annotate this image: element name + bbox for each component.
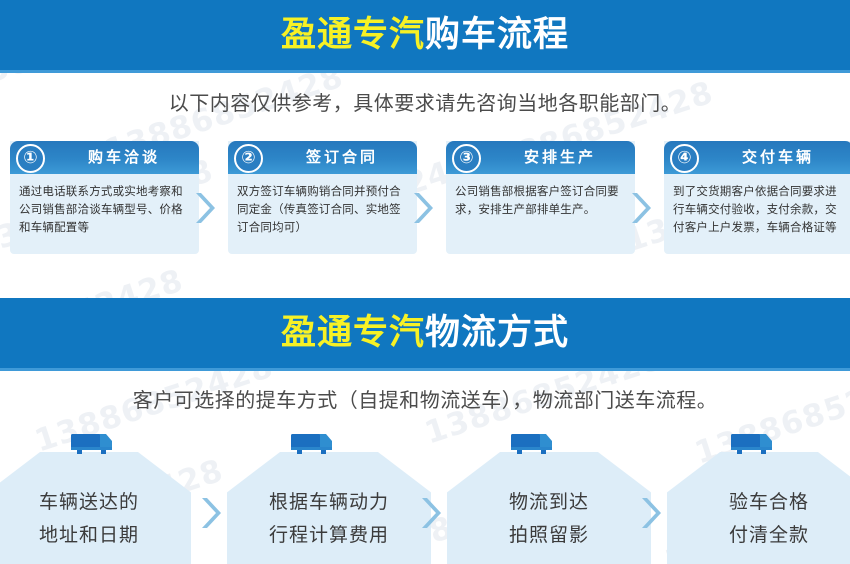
chevron-right-icon [411,191,433,225]
logistics-card-3-text: 物流到达 拍照留影 [447,486,651,552]
logistics-card-2-line1: 根据车辆动力 [227,486,431,519]
truck-icon [728,432,774,456]
logistics-card-1-line2: 地址和日期 [0,519,191,552]
step-card-3-body: 公司销售部根据客户签订合同要求，安排生产部排单生产。 [446,174,635,218]
step-card-3-title: 安排生产 [491,141,629,174]
logistics-card-1-line1: 车辆送达的 [0,486,191,519]
chevron-right-icon [199,496,221,530]
step-number-badge: ② [234,144,263,173]
step-card-1-title: 购车洽谈 [55,141,193,174]
step-number-badge: ③ [452,144,481,173]
logistics-banner: 盈通专汽物流方式 [0,298,850,371]
logistics-card-2-line2: 行程计算费用 [227,519,431,552]
step-card-1-body: 通过电话联系方式或实地考察和公司销售部洽谈车辆型号、价格和车辆配置等 [10,174,199,236]
purchase-flow-subtitle: 以下内容仅供参考，具体要求请先咨询当地各职能部门。 [0,87,850,116]
brand-name: 盈通专汽 [281,313,425,353]
logistics-card-4-line2: 付清全款 [667,519,850,552]
logistics-card-1[interactable]: 车辆送达的 地址和日期 [0,452,191,564]
page-root: 13886852428 13886852428 13886852428 1388… [0,0,850,564]
step-card-1[interactable]: ① 购车洽谈 通过电话联系方式或实地考察和公司销售部洽谈车辆型号、价格和车辆配置… [10,141,199,254]
chevron-right-icon [629,191,651,225]
logistics-card-3[interactable]: 物流到达 拍照留影 [447,452,651,564]
step-card-2-title: 签订合同 [273,141,411,174]
step-card-2[interactable]: ② 签订合同 双方签订车辆购销合同并预付合同定金（传真签订合同、实地签订合同均可… [228,141,417,254]
step-number-badge: ④ [670,144,699,173]
logistics-steps-row: 车辆送达的 地址和日期 根据车辆动力 行程计算费用 [0,432,850,564]
purchase-flow-banner: 盈通专汽购车流程 [0,0,850,73]
step-card-1-header: ① 购车洽谈 [10,141,199,174]
logistics-card-3-line1: 物流到达 [447,486,651,519]
chevron-right-icon [193,191,215,225]
truck-icon [508,432,554,456]
chevron-right-icon [639,496,661,530]
step-card-4-body: 到了交货期客户依据合同要求进行车辆交付验收，支付余款，交付客户上户发票，车辆合格… [664,174,850,236]
chevron-right-icon [419,496,441,530]
logistics-card-4[interactable]: 验车合格 付清全款 [667,452,850,564]
banner-subject: 购车流程 [425,15,569,55]
brand-name: 盈通专汽 [281,15,425,55]
logistics-card-2[interactable]: 根据车辆动力 行程计算费用 [227,452,431,564]
step-card-3-header: ③ 安排生产 [446,141,635,174]
truck-icon [68,432,114,456]
logistics-card-4-text: 验车合格 付清全款 [667,486,850,552]
step-card-3[interactable]: ③ 安排生产 公司销售部根据客户签订合同要求，安排生产部排单生产。 [446,141,635,254]
truck-icon [288,432,334,456]
step-number-badge: ① [16,144,45,173]
logistics-title: 盈通专汽物流方式 [0,298,850,368]
step-card-2-body: 双方签订车辆购销合同并预付合同定金（传真签订合同、实地签订合同均可） [228,174,417,236]
step-card-4[interactable]: ④ 交付车辆 到了交货期客户依据合同要求进行车辆交付验收，支付余款，交付客户上户… [664,141,850,254]
step-card-4-title: 交付车辆 [709,141,847,174]
purchase-flow-title: 盈通专汽购车流程 [0,0,850,70]
logistics-subtitle: 客户可选择的提车方式（自提和物流送车），物流部门送车流程。 [0,384,850,413]
logistics-card-1-text: 车辆送达的 地址和日期 [0,486,191,552]
step-card-2-header: ② 签订合同 [228,141,417,174]
step-card-4-header: ④ 交付车辆 [664,141,850,174]
logistics-card-4-line1: 验车合格 [667,486,850,519]
logistics-card-3-line2: 拍照留影 [447,519,651,552]
purchase-steps-row: ① 购车洽谈 通过电话联系方式或实地考察和公司销售部洽谈车辆型号、价格和车辆配置… [0,141,850,256]
logistics-card-2-text: 根据车辆动力 行程计算费用 [227,486,431,552]
banner-subject: 物流方式 [425,313,569,353]
